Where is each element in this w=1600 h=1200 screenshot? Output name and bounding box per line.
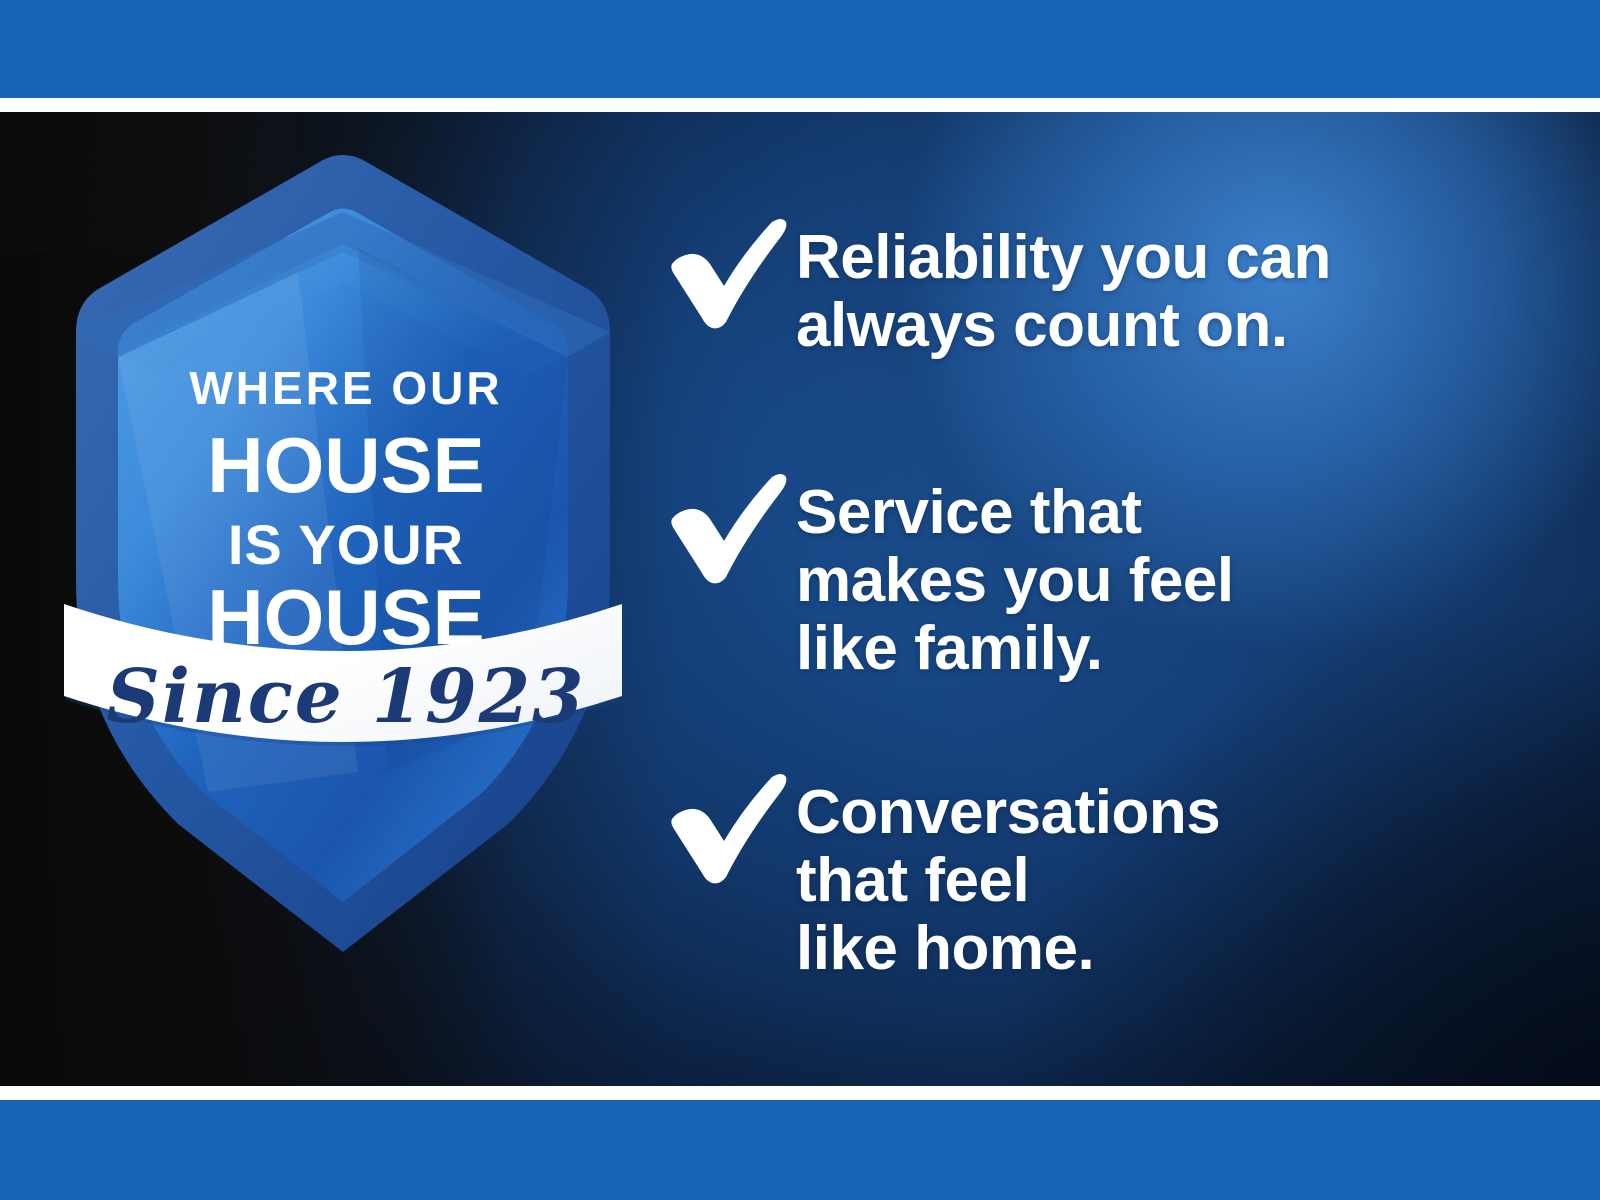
top-white-rule	[0, 98, 1600, 112]
top-brand-bar	[0, 0, 1600, 98]
value-prop-list: Reliability you can always count on. Ser…	[660, 112, 1540, 1086]
checkmark-icon	[660, 212, 788, 330]
list-item-text: Service that makes you feel like family.	[796, 467, 1234, 684]
list-item: Reliability you can always count on.	[660, 212, 1331, 360]
checkmark-icon	[660, 767, 788, 885]
list-item-text: Conversations that feel like home.	[796, 767, 1220, 984]
list-item: Service that makes you feel like family.	[660, 467, 1234, 684]
list-item-text: Reliability you can always count on.	[796, 212, 1331, 360]
company-shield-badge: WHERE OUR HOUSE IS YOUR HOUSE Since 1923	[58, 152, 628, 952]
tagline-line-3: IS YOUR	[228, 513, 464, 576]
tagline-line-2: HOUSE	[207, 421, 484, 509]
bottom-white-rule	[0, 1086, 1600, 1100]
list-item: Conversations that feel like home.	[660, 767, 1220, 984]
tagline-line-1: WHERE OUR	[189, 362, 502, 414]
bottom-brand-bar	[0, 1100, 1600, 1200]
checkmark-icon	[660, 467, 788, 585]
ribbon-since-text: Since 1923	[106, 654, 585, 740]
